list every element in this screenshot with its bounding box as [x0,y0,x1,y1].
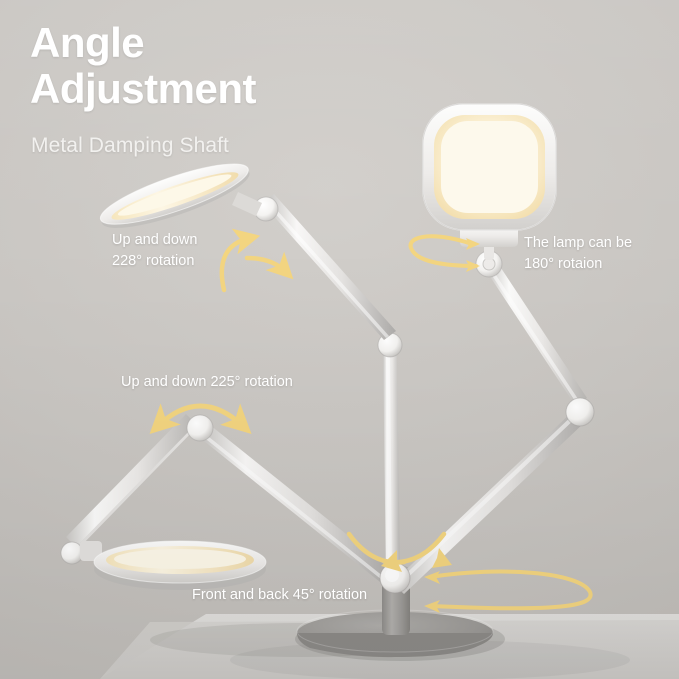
callout-lamp-180: The lamp can be 180° rotaion [524,233,632,275]
infographic-canvas: Angle Adjustment Metal Damping Shaft Up … [0,0,679,679]
callout-up-down-228: Up and down 228° rotation [112,230,197,272]
callout-front-back-45: Front and back 45° rotation [192,585,367,606]
callout-up-down-225: Up and down 225° rotation [121,372,293,393]
page-title: Angle Adjustment [30,20,256,112]
page-subtitle: Metal Damping Shaft [31,134,229,158]
